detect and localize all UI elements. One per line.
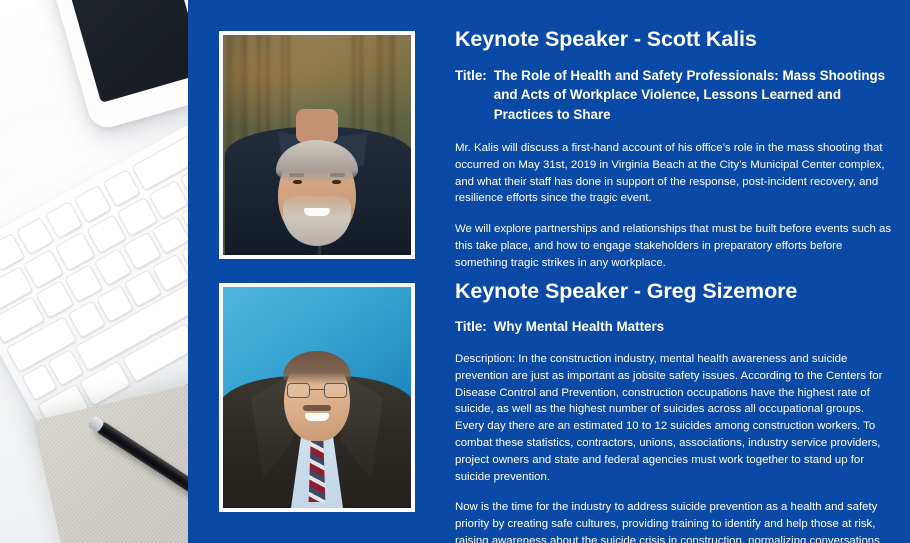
glasses-bridge [310,389,324,390]
hair [283,351,351,385]
flyer-page: Keynote Speaker - Scott Kalis Title: The… [0,0,910,543]
title-label: Title: [455,66,494,124]
person-figure-kalis [223,100,411,255]
moustache [303,405,331,411]
photo-image-kalis [223,35,411,255]
speaker-paragraph: Now is the time for the industry to addr… [455,499,895,543]
speaker-name-kalis: Keynote Speaker - Scott Kalis [455,27,895,52]
speaker-title-kalis: Title: The Role of Health and Safety Pro… [455,66,895,124]
speaker-photo-kalis [219,31,415,259]
content-column: Keynote Speaker - Scott Kalis Title: The… [455,0,895,543]
speaker-block-sizemore: Keynote Speaker - Greg Sizemore Title: W… [455,279,895,543]
phone-screen [55,0,188,103]
title-text: Why Mental Health Matters [494,317,895,336]
speaker-paragraph: Description: In the construction industr… [455,351,895,485]
eyebrow-left [289,173,304,177]
smartphone-object [35,0,188,132]
lens-left [287,383,310,398]
lens-right [324,383,347,398]
speaker-photo-sizemore [219,283,415,512]
title-text: The Role of Health and Safety Profession… [494,66,895,124]
speaker-name-sizemore: Keynote Speaker - Greg Sizemore [455,279,895,304]
photo-image-sizemore [223,287,411,508]
eyeglasses-icon [287,383,347,399]
eye-right [332,180,341,184]
person-figure-sizemore [223,347,411,508]
title-label: Title: [455,317,494,336]
neck [296,109,338,143]
speaker-block-kalis: Keynote Speaker - Scott Kalis Title: The… [455,27,895,271]
speaker-title-sizemore: Title: Why Mental Health Matters [455,317,895,336]
speaker-paragraph: We will explore partnerships and relatio… [455,221,895,271]
speaker-paragraph: Mr. Kalis will discuss a first-hand acco… [455,140,895,207]
desk-flatlay-photo [0,0,188,543]
smile [304,208,330,216]
eyebrow-right [330,173,345,177]
smile [305,413,329,421]
eye-left [293,180,302,184]
